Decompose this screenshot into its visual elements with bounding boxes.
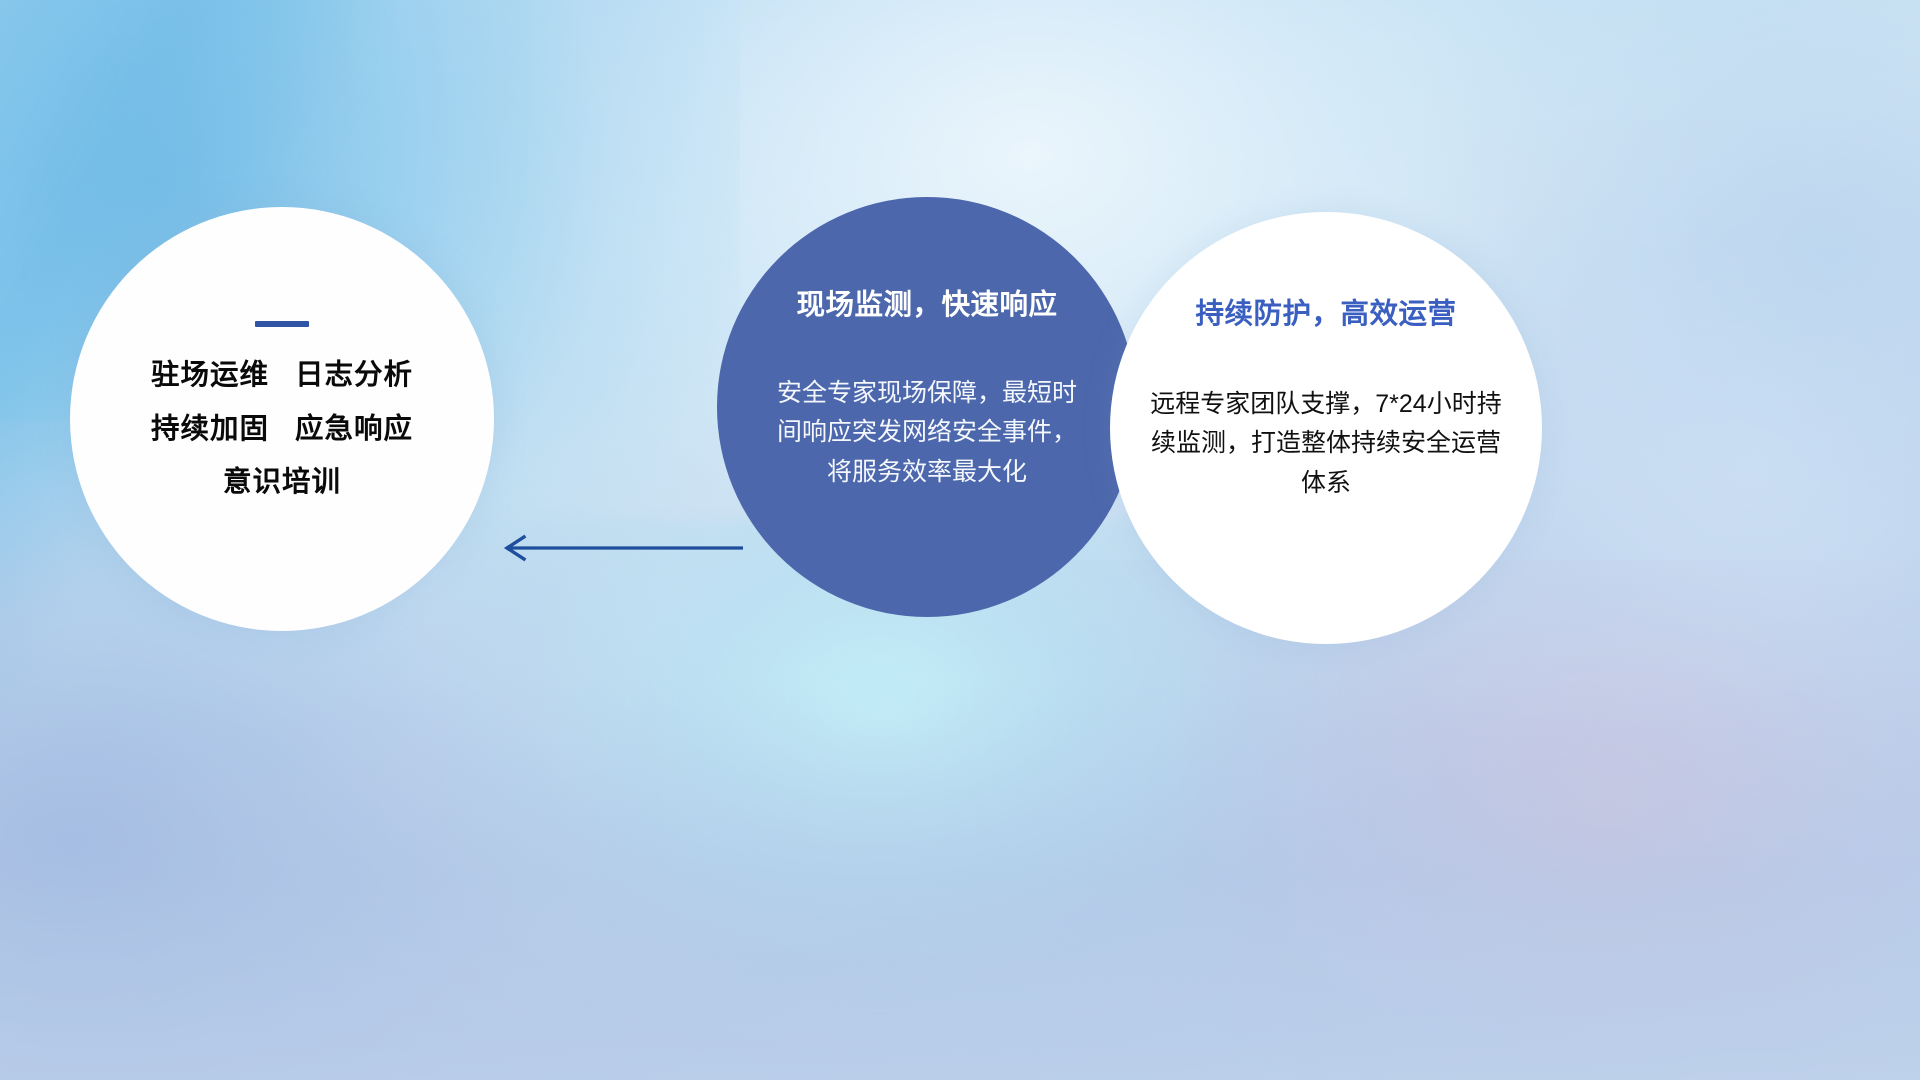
list-item: 持续加固应急响应 <box>151 415 413 444</box>
continuous-protection-body: 远程专家团队支撑，7*24小时持续监测，打造整体持续安全运营体系 <box>1140 385 1512 504</box>
diagram-stage: 驻场运维日志分析 持续加固应急响应 意识培训 现场监测，快速响应 安全专家现场保… <box>0 0 1920 1080</box>
capability-label: 意识培训 <box>223 466 341 498</box>
capability-label: 持续加固 <box>151 413 269 445</box>
capability-label: 应急响应 <box>295 413 413 445</box>
onsite-monitoring-title: 现场监测，快速响应 <box>796 291 1057 320</box>
capabilities-list: 驻场运维日志分析 持续加固应急响应 意识培训 <box>151 361 413 497</box>
list-item: 意识培训 <box>151 468 413 497</box>
capabilities-circle[interactable]: 驻场运维日志分析 持续加固应急响应 意识培训 <box>70 207 494 631</box>
dash-divider-icon <box>255 321 309 327</box>
continuous-protection-title: 持续防护，高效运营 <box>1195 300 1456 329</box>
capability-label: 日志分析 <box>295 359 413 391</box>
arrow-left-icon <box>488 520 748 576</box>
continuous-protection-circle[interactable]: 持续防护，高效运营 远程专家团队支撑，7*24小时持续监测，打造整体持续安全运营… <box>1110 212 1542 644</box>
capability-label: 驻场运维 <box>151 359 269 391</box>
onsite-monitoring-circle[interactable]: 现场监测，快速响应 安全专家现场保障，最短时间响应突发网络安全事件，将服务效率最… <box>717 197 1137 617</box>
onsite-monitoring-body: 安全专家现场保障，最短时间响应突发网络安全事件，将服务效率最大化 <box>772 374 1082 493</box>
list-item: 驻场运维日志分析 <box>151 361 413 390</box>
